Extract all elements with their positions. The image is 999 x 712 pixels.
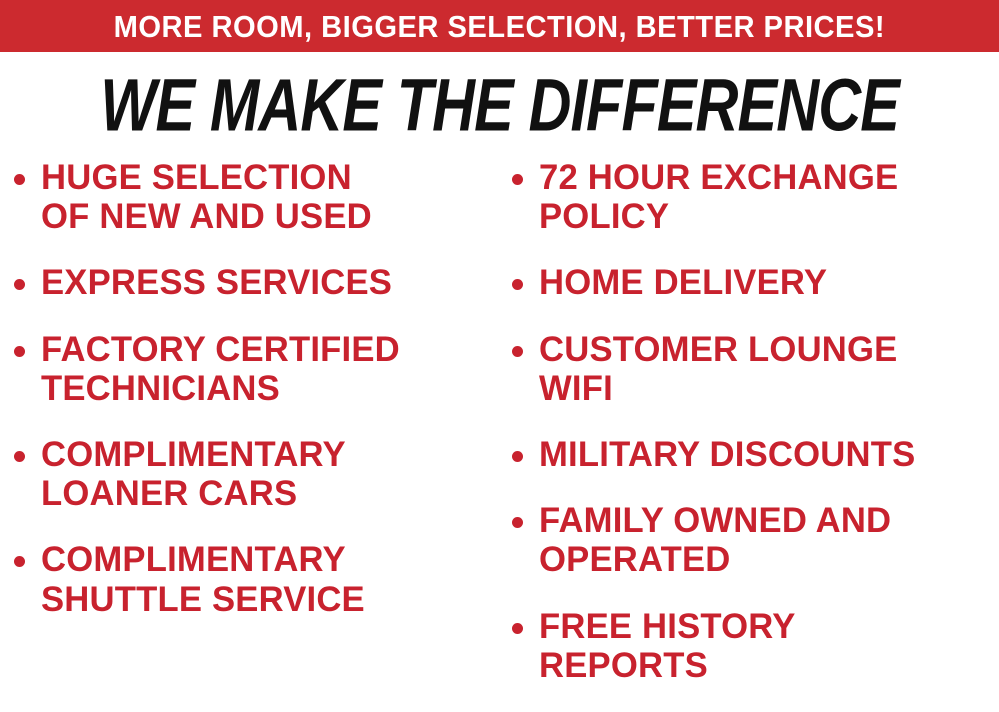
bullet-dot-icon [14, 174, 25, 185]
list-item-label: 72 HOUR EXCHANGE POLICY [539, 158, 898, 236]
features-left-column: HUGE SELECTION OF NEW AND USED EXPRESS S… [14, 158, 494, 646]
list-item-label: COMPLIMENTARY LOANER CARS [41, 435, 346, 513]
list-item-label: COMPLIMENTARY SHUTTLE SERVICE [41, 540, 365, 618]
bullet-dot-icon [512, 451, 523, 462]
list-item: MILITARY DISCOUNTS [512, 435, 999, 474]
list-item: FAMILY OWNED AND OPERATED [512, 501, 999, 579]
list-item: FACTORY CERTIFIED TECHNICIANS [14, 330, 494, 408]
list-item: COMPLIMENTARY SHUTTLE SERVICE [14, 540, 494, 618]
list-item-label: CUSTOMER LOUNGE WIFI [539, 330, 897, 408]
bullet-dot-icon [512, 174, 523, 185]
features-section: HUGE SELECTION OF NEW AND USED EXPRESS S… [0, 158, 999, 692]
list-item-label: FREE HISTORY REPORTS [539, 607, 796, 685]
headline: WE MAKE THE DIFFERENCE [0, 68, 999, 134]
bullet-dot-icon [14, 556, 25, 567]
promo-banner: MORE ROOM, BIGGER SELECTION, BETTER PRIC… [0, 0, 999, 52]
bullet-dot-icon [512, 517, 523, 528]
list-item: HOME DELIVERY [512, 263, 999, 302]
list-item-label: HOME DELIVERY [539, 263, 827, 302]
bullet-dot-icon [14, 346, 25, 357]
list-item: 72 HOUR EXCHANGE POLICY [512, 158, 999, 236]
bullet-dot-icon [512, 279, 523, 290]
list-item: HUGE SELECTION OF NEW AND USED [14, 158, 494, 236]
list-item: FREE HISTORY REPORTS [512, 607, 999, 685]
promo-banner-text: MORE ROOM, BIGGER SELECTION, BETTER PRIC… [114, 11, 885, 42]
list-item-label: MILITARY DISCOUNTS [539, 435, 915, 474]
bullet-dot-icon [512, 346, 523, 357]
list-item-label: FAMILY OWNED AND OPERATED [539, 501, 891, 579]
features-right-column: 72 HOUR EXCHANGE POLICY HOME DELIVERY CU… [512, 158, 999, 712]
headline-text: WE MAKE THE DIFFERENCE [100, 68, 899, 142]
list-item-label: HUGE SELECTION OF NEW AND USED [41, 158, 372, 236]
list-item-label: EXPRESS SERVICES [41, 263, 392, 302]
list-item: EXPRESS SERVICES [14, 263, 494, 302]
list-item: CUSTOMER LOUNGE WIFI [512, 330, 999, 408]
bullet-dot-icon [14, 279, 25, 290]
list-item: COMPLIMENTARY LOANER CARS [14, 435, 494, 513]
bullet-dot-icon [14, 451, 25, 462]
bullet-dot-icon [512, 623, 523, 634]
list-item-label: FACTORY CERTIFIED TECHNICIANS [41, 330, 400, 408]
